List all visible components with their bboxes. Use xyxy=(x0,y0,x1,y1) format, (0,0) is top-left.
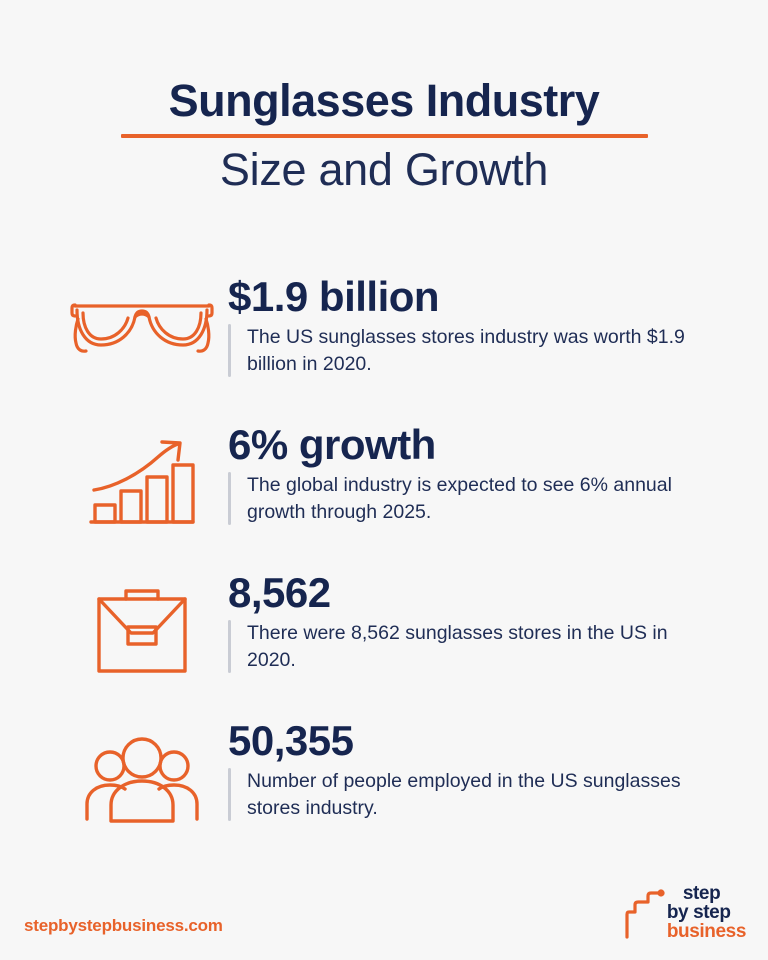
step-stairs-icon xyxy=(625,889,665,944)
footer-website-url[interactable]: stepbystepbusiness.com xyxy=(24,916,223,936)
stat-value: 6% growth xyxy=(228,423,738,468)
logo-line-2: by step xyxy=(667,904,746,922)
logo-line-3: business xyxy=(667,923,746,941)
stat-row: $1.9 billion The US sunglasses stores in… xyxy=(56,273,738,421)
stat-divider xyxy=(228,768,231,822)
people-group-icon xyxy=(56,717,228,825)
stat-divider xyxy=(228,620,231,674)
briefcase-icon xyxy=(56,569,228,675)
stats-list: $1.9 billion The US sunglasses stores in… xyxy=(0,273,768,865)
stat-row: 50,355 Number of people employed in the … xyxy=(56,717,738,865)
stat-description-wrap: The global industry is expected to see 6… xyxy=(228,472,738,526)
stat-value: 8,562 xyxy=(228,571,738,616)
stat-description: The US sunglasses stores industry was wo… xyxy=(247,324,687,378)
page-title: Sunglasses Industry xyxy=(169,78,600,128)
stat-body: 50,355 Number of people employed in the … xyxy=(228,717,738,821)
footer: stepbystepbusiness.com step by step busi… xyxy=(0,870,768,960)
stat-description: There were 8,562 sunglasses stores in th… xyxy=(247,620,687,674)
header: Sunglasses Industry Size and Growth xyxy=(0,0,768,193)
stat-divider xyxy=(228,472,231,526)
stat-divider xyxy=(228,324,231,378)
page-subtitle: Size and Growth xyxy=(0,146,768,193)
sunglasses-icon xyxy=(56,273,228,365)
stat-value: 50,355 xyxy=(228,719,738,764)
logo-line-1: step xyxy=(683,885,746,903)
stat-description: Number of people employed in the US sung… xyxy=(247,768,687,822)
title-underline-rule xyxy=(121,134,648,138)
growth-chart-icon xyxy=(56,421,228,529)
stat-description-wrap: Number of people employed in the US sung… xyxy=(228,768,738,822)
stat-description-wrap: There were 8,562 sunglasses stores in th… xyxy=(228,620,738,674)
stat-description-wrap: The US sunglasses stores industry was wo… xyxy=(228,324,738,378)
stat-body: 6% growth The global industry is expecte… xyxy=(228,421,738,525)
stat-row: 6% growth The global industry is expecte… xyxy=(56,421,738,569)
stat-body: 8,562 There were 8,562 sunglasses stores… xyxy=(228,569,738,673)
stat-description: The global industry is expected to see 6… xyxy=(247,472,687,526)
stat-body: $1.9 billion The US sunglasses stores in… xyxy=(228,273,738,377)
brand-logo-text: step by step business xyxy=(667,885,746,941)
brand-logo[interactable]: step by step business xyxy=(625,885,746,944)
stat-value: $1.9 billion xyxy=(228,275,738,320)
stat-row: 8,562 There were 8,562 sunglasses stores… xyxy=(56,569,738,717)
infographic-page: Sunglasses Industry Size and Growth xyxy=(0,0,768,960)
